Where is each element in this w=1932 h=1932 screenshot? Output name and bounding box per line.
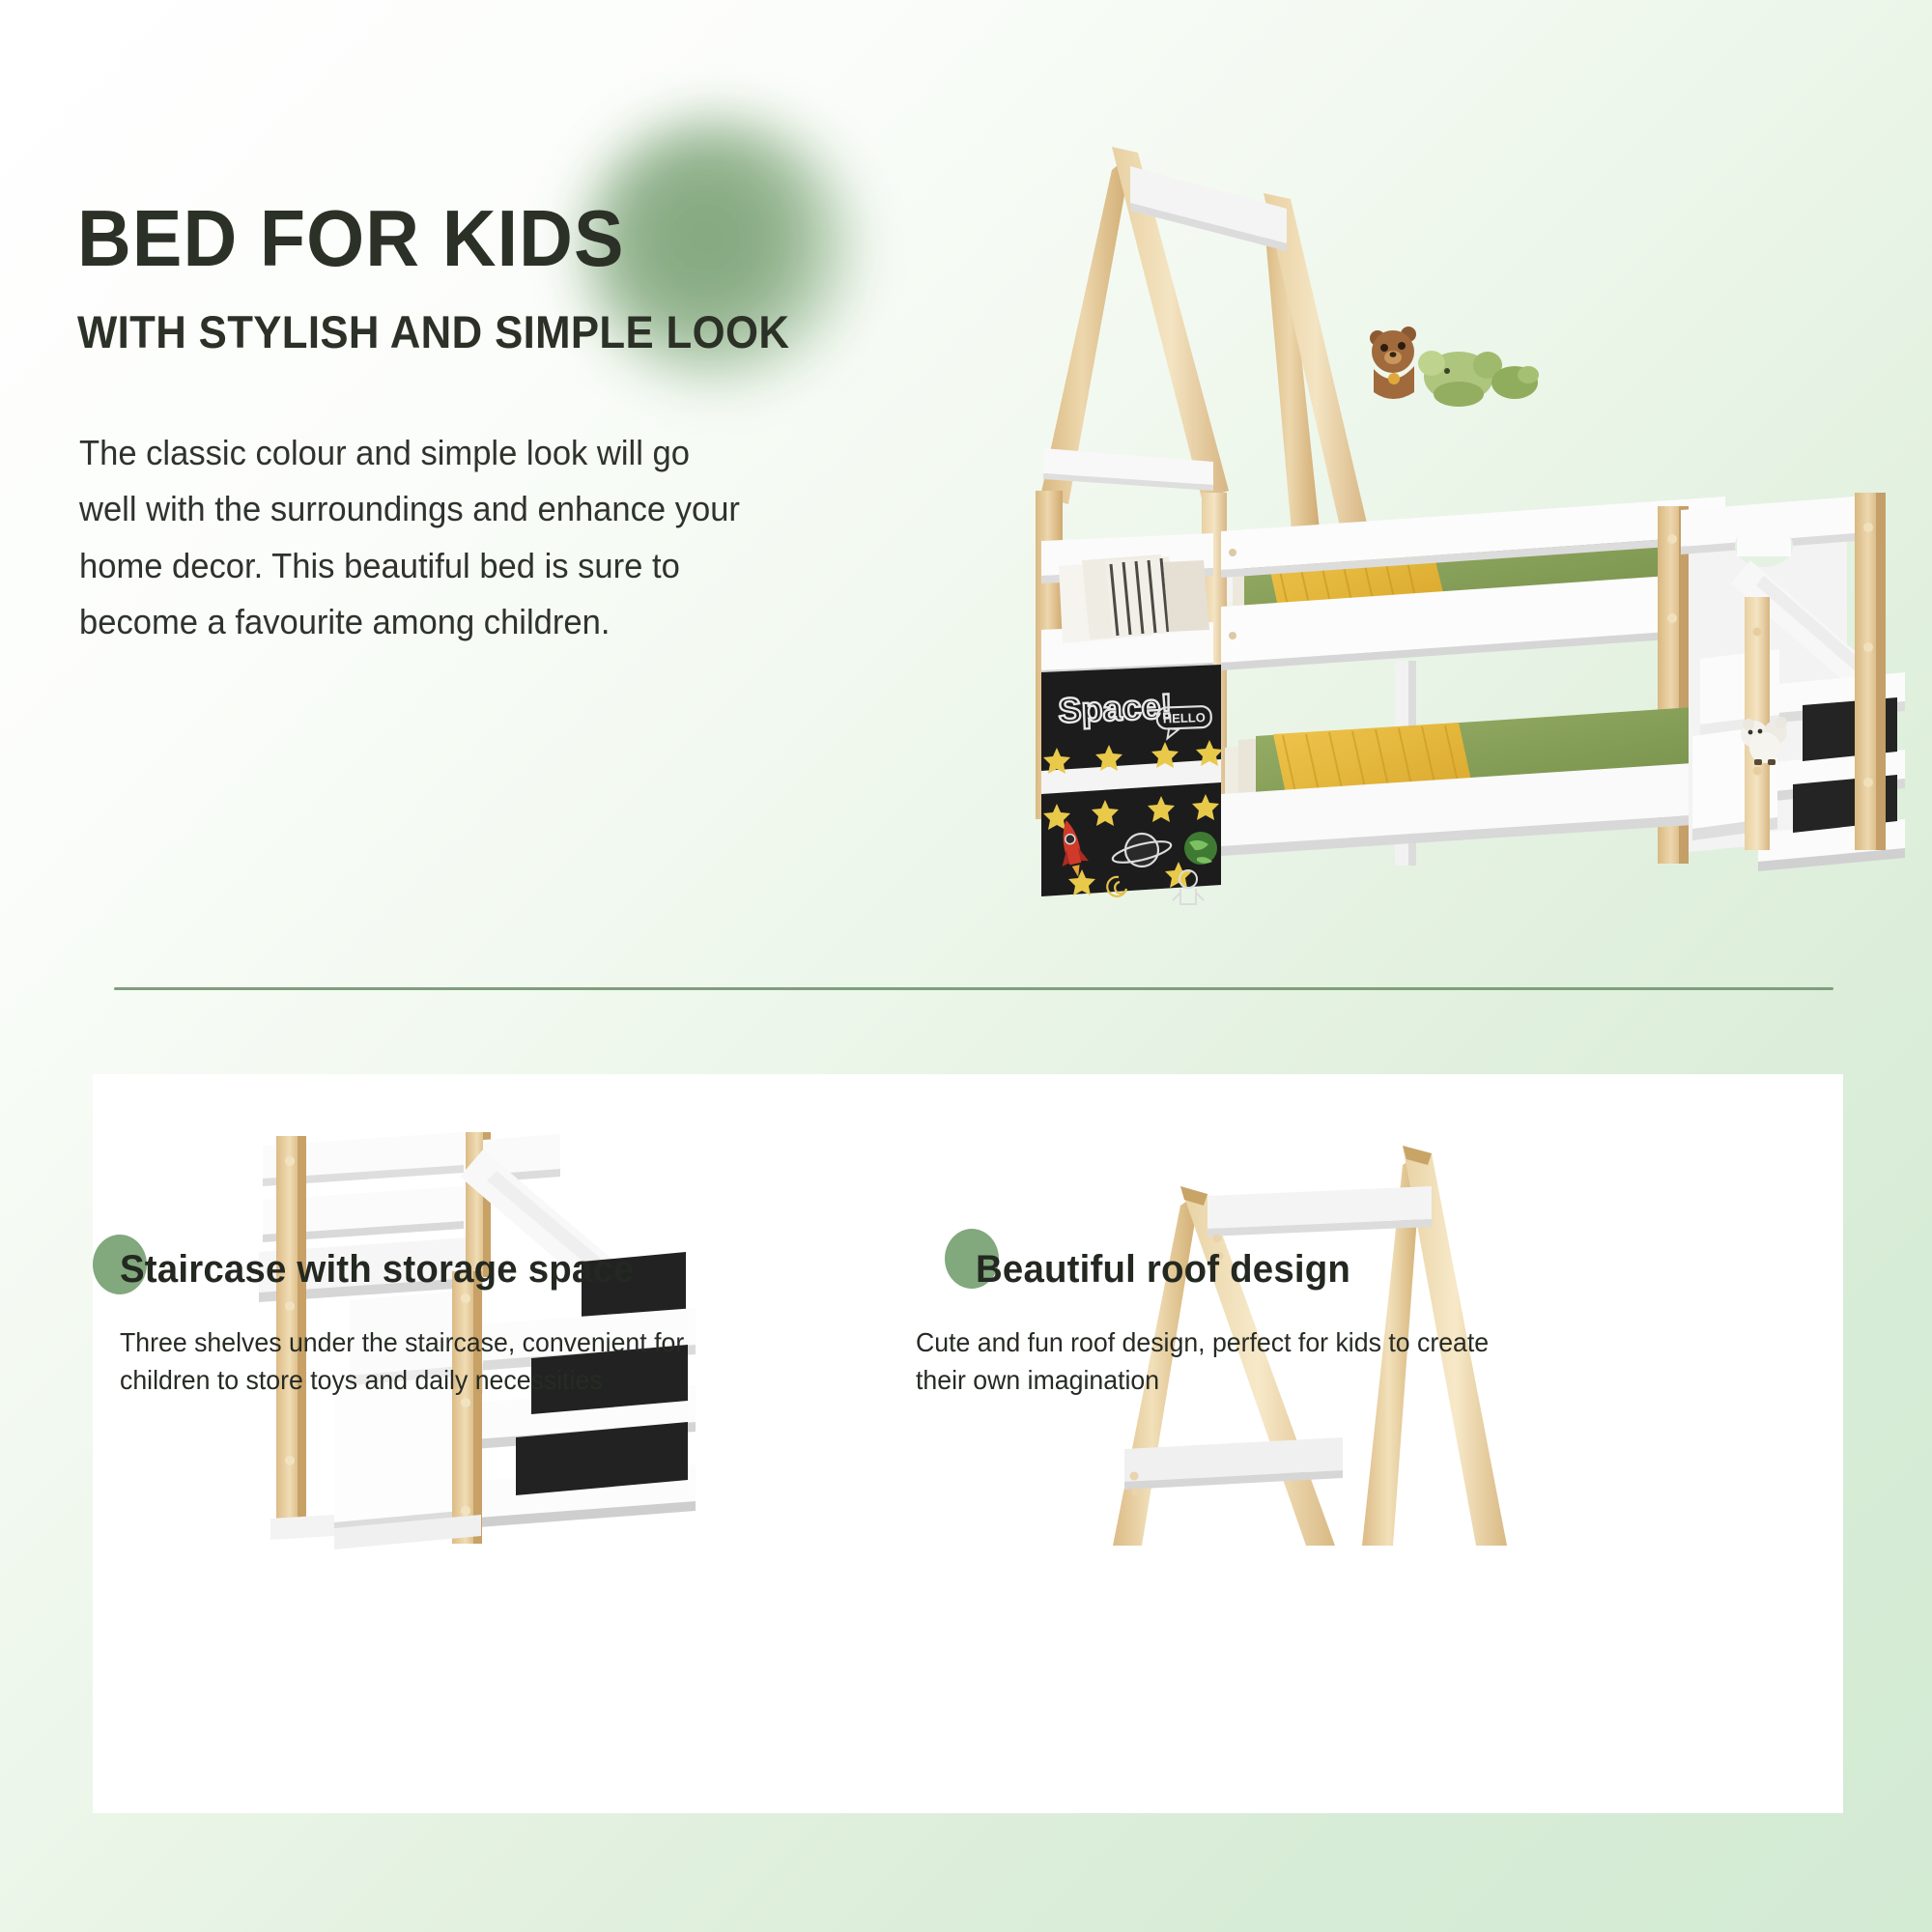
page-title: BED FOR KIDS <box>77 198 886 280</box>
hero-product-image: Space! HELLO <box>985 106 1932 908</box>
plush-toys <box>1370 327 1539 407</box>
section-divider <box>114 987 1833 990</box>
feature-heading-staircase: Staircase with storage space <box>120 1248 635 1292</box>
staircase-storage-unit <box>1681 493 1905 871</box>
hero-description: The classic colour and simple look will … <box>79 425 756 650</box>
svg-text:Space!: Space! <box>1058 686 1174 730</box>
page-subtitle: WITH STYLISH AND SIMPLE LOOK <box>77 305 886 358</box>
infographic-page: BED FOR KIDS WITH STYLISH AND SIMPLE LOO… <box>0 0 1932 1932</box>
svg-text:HELLO: HELLO <box>1163 710 1207 726</box>
feature-body-roof: Cute and fun roof design, perfect for ki… <box>916 1323 1516 1399</box>
feature-heading-roof: Beautiful roof design <box>976 1248 1350 1292</box>
feature-body-staircase: Three shelves under the staircase, conve… <box>120 1323 738 1399</box>
hero-text-block: BED FOR KIDS WITH STYLISH AND SIMPLE LOO… <box>77 198 947 358</box>
chalkboard-panels: Space! HELLO <box>1041 665 1223 904</box>
pillows <box>1059 554 1209 643</box>
